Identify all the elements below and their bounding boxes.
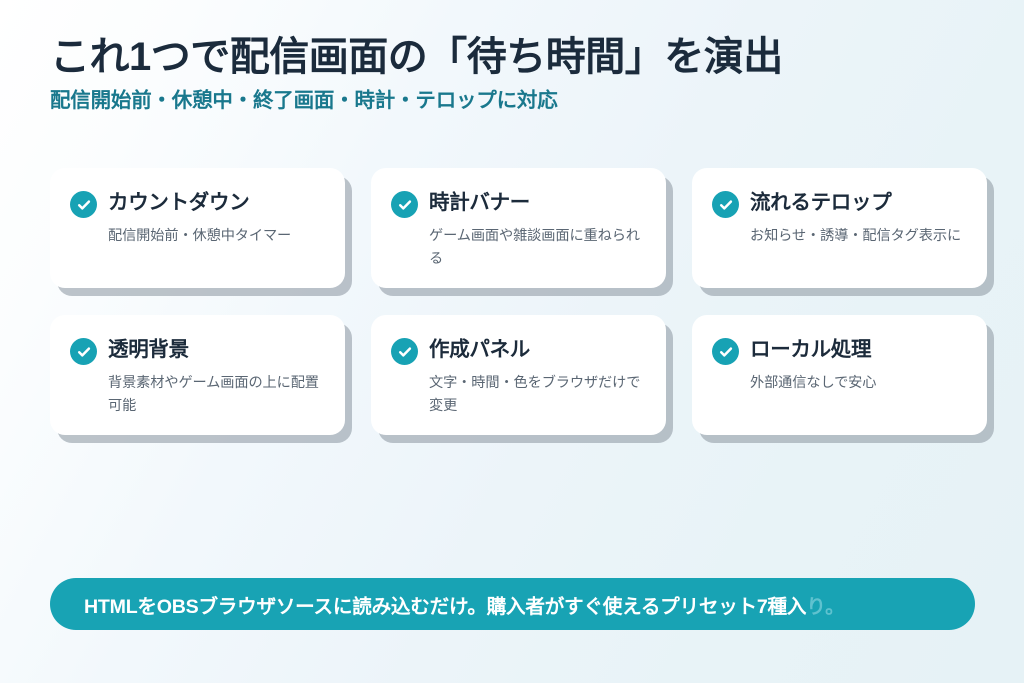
feature-card-title: ローカル処理 [750, 337, 871, 364]
feature-card: ローカル処理 外部通信なしで安心 [692, 315, 987, 435]
feature-card-description: 配信開始前・休憩中タイマー [108, 225, 320, 248]
check-circle-icon [391, 191, 418, 218]
feature-card-description: お知らせ・誘導・配信タグ表示に [750, 225, 962, 248]
feature-card-title: 流れるテロップ [750, 190, 891, 217]
feature-card-header: 流れるテロップ [712, 190, 965, 218]
feature-card-title: カウントダウン [108, 190, 249, 217]
feature-card: 透明背景 背景素材やゲーム画面の上に配置可能 [50, 315, 345, 435]
footer-banner: HTMLをOBSブラウザソースに読み込むだけ。購入者がすぐ使えるプリセット7種入… [50, 578, 975, 630]
feature-card-header: ローカル処理 [712, 337, 965, 365]
feature-card-description: ゲーム画面や雑談画面に重ねられる [429, 225, 641, 271]
check-circle-icon [712, 338, 739, 365]
page-subtitle: 配信開始前・休憩中・終了画面・時計・テロップに対応 [50, 88, 990, 114]
page-title: これ1つで配信画面の「待ち時間」を演出 [50, 34, 990, 81]
feature-card-title: 作成パネル [429, 337, 530, 364]
feature-card: 時計バナー ゲーム画面や雑談画面に重ねられる [371, 168, 666, 288]
feature-card-header: 作成パネル [391, 337, 644, 365]
feature-card-description: 文字・時間・色をブラウザだけで変更 [429, 372, 641, 418]
feature-card: 作成パネル 文字・時間・色をブラウザだけで変更 [371, 315, 666, 435]
feature-card-description: 背景素材やゲーム画面の上に配置可能 [108, 372, 320, 418]
feature-card-header: カウントダウン [70, 190, 323, 218]
feature-card: 流れるテロップ お知らせ・誘導・配信タグ表示に [692, 168, 987, 288]
page-header: これ1つで配信画面の「待ち時間」を演出 配信開始前・休憩中・終了画面・時計・テロ… [50, 34, 990, 114]
feature-card-grid: カウントダウン 配信開始前・休憩中タイマー 時計バナー ゲーム画面や雑談画面に重… [50, 168, 990, 435]
footer-banner-text-main: HTMLをOBSブラウザソースに読み込むだけ。購入者がすぐ使えるプリセット7種入 [84, 590, 806, 619]
feature-card: カウントダウン 配信開始前・休憩中タイマー [50, 168, 345, 288]
feature-card-title: 透明背景 [108, 337, 189, 364]
check-circle-icon [391, 338, 418, 365]
feature-card-header: 透明背景 [70, 337, 323, 365]
feature-card-header: 時計バナー [391, 190, 644, 218]
feature-card-title: 時計バナー [429, 190, 530, 217]
check-circle-icon [70, 191, 97, 218]
check-circle-icon [712, 191, 739, 218]
feature-card-description: 外部通信なしで安心 [750, 372, 962, 395]
feature-highlight-page: これ1つで配信画面の「待ち時間」を演出 配信開始前・休憩中・終了画面・時計・テロ… [0, 0, 1024, 683]
footer-banner-text: HTMLをOBSブラウザソースに読み込むだけ。購入者がすぐ使えるプリセット7種入… [84, 578, 845, 630]
footer-banner-text-overflow: り。 [806, 590, 844, 619]
check-circle-icon [70, 338, 97, 365]
